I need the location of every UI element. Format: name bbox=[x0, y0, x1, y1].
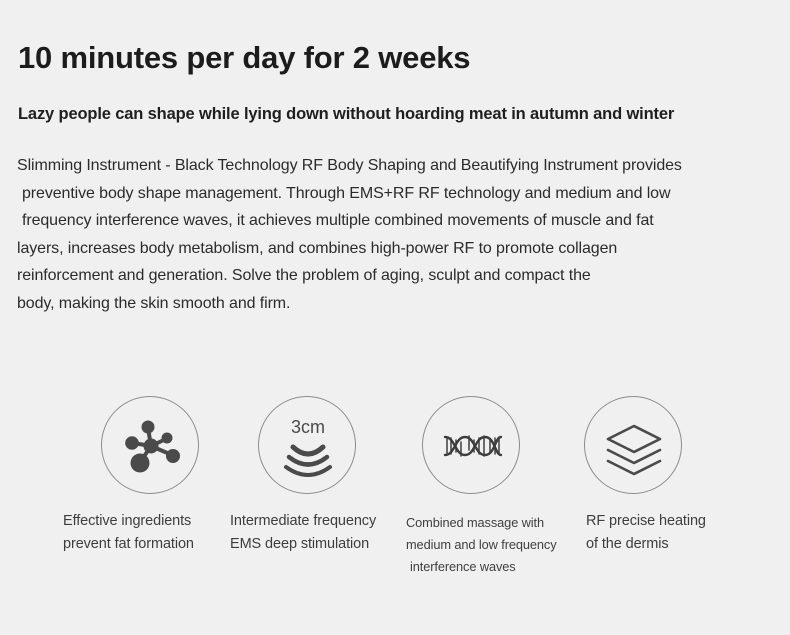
page-subheadline: Lazy people can shape while lying down w… bbox=[18, 105, 674, 124]
feature-item-massage bbox=[422, 396, 520, 494]
feature-item-frequency: 3cm bbox=[258, 396, 356, 494]
feature-caption-massage: Combined massage with medium and low fre… bbox=[406, 512, 557, 578]
molecule-icon bbox=[102, 397, 200, 495]
caption-line: EMS deep stimulation bbox=[230, 533, 376, 556]
feature-caption-ingredients: Effective ingredients prevent fat format… bbox=[63, 510, 194, 556]
caption-line: of the dermis bbox=[586, 533, 706, 556]
caption-line: interference waves bbox=[406, 556, 557, 578]
feature-caption-rf-heating: RF precise heating of the dermis bbox=[586, 510, 706, 556]
page-headline: 10 minutes per day for 2 weeks bbox=[18, 40, 470, 76]
body-paragraph: Slimming Instrument - Black Technology R… bbox=[17, 152, 787, 317]
body-line: frequency interference waves, it achieve… bbox=[17, 207, 787, 235]
feature-caption-frequency: Intermediate frequency EMS deep stimulat… bbox=[230, 510, 376, 556]
caption-line: prevent fat formation bbox=[63, 533, 194, 556]
product-description-page: 10 minutes per day for 2 weeks Lazy peop… bbox=[0, 0, 790, 635]
caption-line: RF precise heating bbox=[586, 510, 706, 533]
frequency-wave-icon bbox=[259, 397, 357, 495]
caption-line: Effective ingredients bbox=[63, 510, 194, 533]
caption-line: Combined massage with bbox=[406, 512, 557, 534]
body-line: body, making the skin smooth and firm. bbox=[17, 290, 787, 318]
feature-icon-circle bbox=[101, 396, 199, 494]
caption-line: Intermediate frequency bbox=[230, 510, 376, 533]
caption-line: medium and low frequency bbox=[406, 534, 557, 556]
feature-icon-circle: 3cm bbox=[258, 396, 356, 494]
layers-icon bbox=[585, 397, 683, 495]
body-line: layers, increases body metabolism, and c… bbox=[17, 235, 787, 263]
feature-item-ingredients bbox=[101, 396, 199, 494]
feature-icon-circle bbox=[584, 396, 682, 494]
feature-row: Effective ingredients prevent fat format… bbox=[0, 396, 790, 596]
body-line: reinforcement and generation. Solve the … bbox=[17, 262, 787, 290]
body-line: preventive body shape management. Throug… bbox=[17, 180, 787, 208]
body-line: Slimming Instrument - Black Technology R… bbox=[17, 152, 787, 180]
feature-item-rf-heating bbox=[584, 396, 682, 494]
dna-helix-icon bbox=[423, 397, 521, 495]
feature-icon-circle bbox=[422, 396, 520, 494]
